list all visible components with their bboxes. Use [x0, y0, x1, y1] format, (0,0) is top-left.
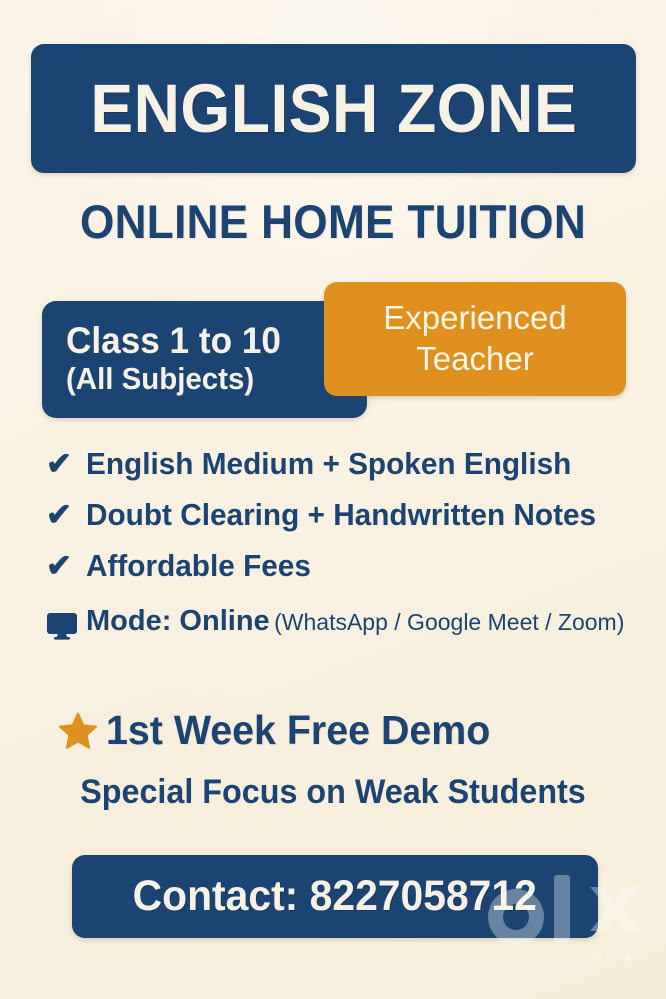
- poster-title: ENGLISH ZONE: [90, 74, 577, 143]
- teacher-badge-line2: Teacher: [416, 339, 533, 380]
- experienced-teacher-badge: Experienced Teacher: [324, 282, 626, 396]
- olx-watermark-region: INDIA: [587, 953, 636, 965]
- contact-label: Contact: 8227058712: [133, 875, 537, 918]
- feature-label: English Medium + Spoken English: [86, 443, 571, 485]
- focus-label: Special Focus on Weak Students: [17, 774, 650, 811]
- check-mark-icon: ✔: [46, 443, 86, 485]
- poster-canvas: ENGLISH ZONE ONLINE HOME TUITION Class 1…: [0, 0, 666, 999]
- teacher-badge-line1: Experienced: [383, 298, 566, 339]
- feature-list: ✔ English Medium + Spoken English ✔ Doub…: [46, 443, 666, 650]
- mode-item: Mode: Online (WhatsApp / Google Meet / Z…: [46, 601, 666, 641]
- title-banner: ENGLISH ZONE: [31, 44, 636, 173]
- free-demo-label: 1st Week Free Demo: [106, 710, 490, 751]
- mode-label: Mode: Online: [86, 605, 270, 637]
- feature-item: ✔ Affordable Fees: [46, 545, 666, 587]
- check-mark-icon: ✔: [46, 494, 86, 536]
- mode-platforms: (WhatsApp / Google Meet / Zoom): [274, 609, 624, 635]
- class-badge-line2: (All Subjects): [66, 361, 352, 398]
- free-demo-row: 1st Week Free Demo: [58, 710, 506, 751]
- feature-item: ✔ Doubt Clearing + Handwritten Notes: [46, 494, 666, 536]
- feature-label: Doubt Clearing + Handwritten Notes: [86, 494, 596, 536]
- monitor-icon: [46, 601, 86, 640]
- contact-bar[interactable]: Contact: 8227058712: [72, 855, 598, 938]
- star-icon: [58, 712, 106, 750]
- check-mark-icon: ✔: [46, 545, 86, 587]
- feature-label: Affordable Fees: [86, 545, 311, 587]
- class-badge-line1: Class 1 to 10: [66, 321, 352, 361]
- poster-subtitle: ONLINE HOME TUITION: [20, 198, 646, 245]
- class-badge: Class 1 to 10 (All Subjects): [42, 301, 367, 418]
- feature-item: ✔ English Medium + Spoken English: [46, 443, 666, 485]
